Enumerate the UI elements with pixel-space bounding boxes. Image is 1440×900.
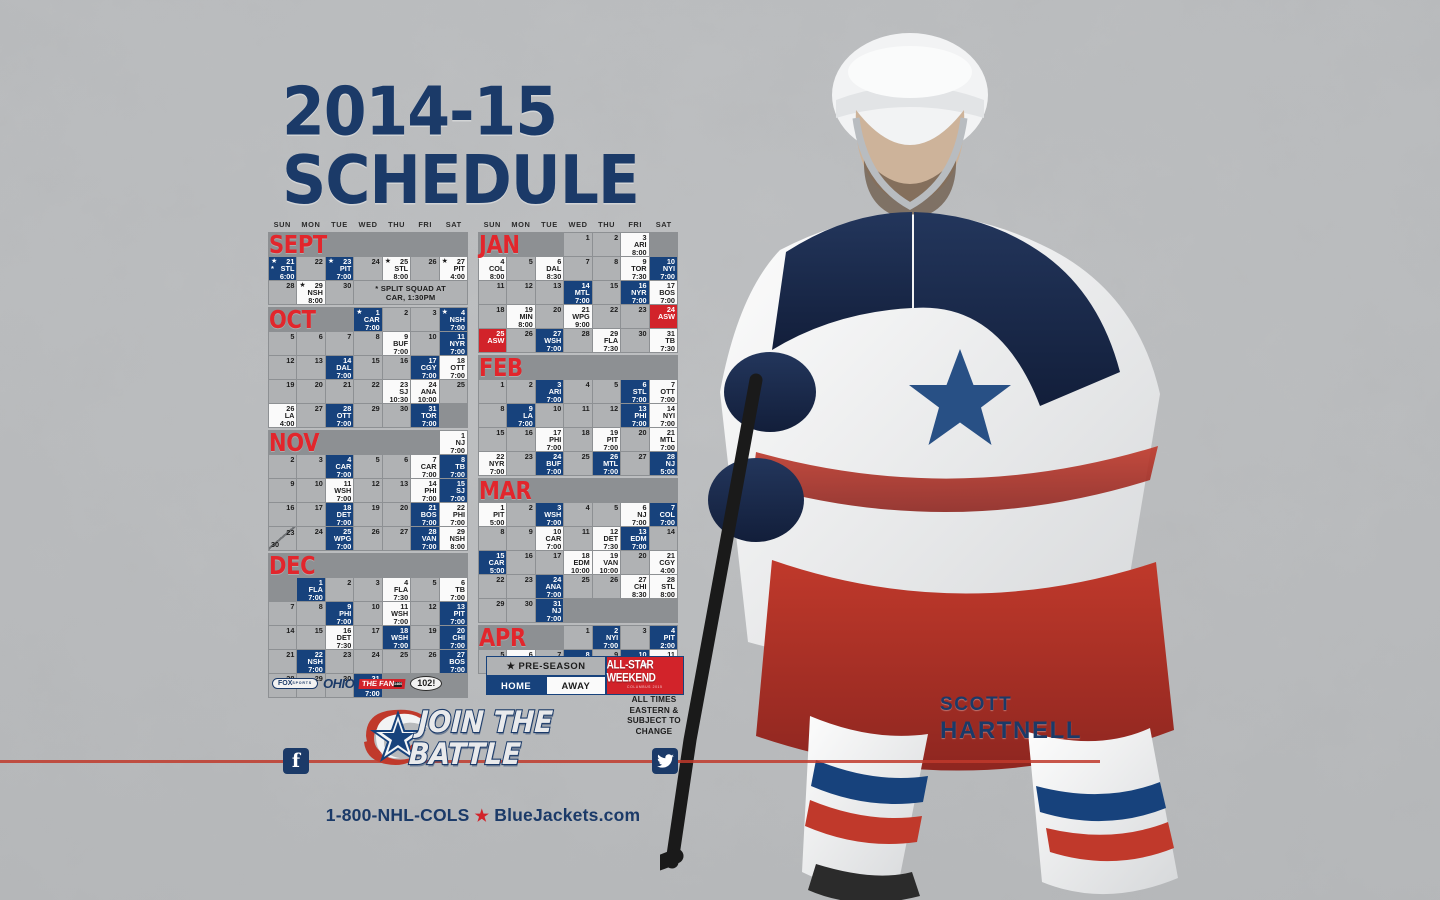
calendar-cell-8: 8 bbox=[297, 602, 324, 625]
game-cell-nj[interactable]: 31NJ7:00 bbox=[536, 599, 563, 622]
calendar-cell-empty bbox=[564, 479, 591, 502]
calendar-cell-12: 12 bbox=[593, 404, 620, 427]
calendar-cell-empty bbox=[269, 578, 296, 601]
game-cell-nyr[interactable]: 11NYR7:00 bbox=[440, 332, 467, 355]
star-icon: ★ bbox=[475, 808, 490, 825]
calendar-cell-empty bbox=[593, 479, 620, 502]
game-cell-nsh[interactable]: 22NSH7:00 bbox=[297, 650, 324, 673]
game-cell-tb[interactable]: 6TB7:00 bbox=[440, 578, 467, 601]
game-cell-tb[interactable]: 8TB7:00 bbox=[440, 455, 467, 478]
game-cell-nyr[interactable]: 22NYR7:00 bbox=[479, 452, 506, 475]
day-of-week-header-left: SUNMONTUEWEDTHUFRISAT bbox=[268, 220, 468, 229]
day-header-thu: THU bbox=[382, 220, 411, 229]
game-cell-phi[interactable]: 14PHI7:00 bbox=[411, 479, 438, 502]
calendar-cell-split: 2330 bbox=[269, 527, 296, 550]
game-cell-bos[interactable]: 17BOS7:00 bbox=[650, 281, 677, 304]
calendar-cell-26: 26 bbox=[354, 527, 381, 550]
calendar-cell-22: 22 bbox=[297, 257, 324, 280]
calendar-cell-empty bbox=[621, 479, 648, 502]
game-cell-la[interactable]: 9LA7:00 bbox=[507, 404, 534, 427]
calendar-cell-empty bbox=[326, 431, 353, 454]
game-cell-tor[interactable]: 31TOR7:00 bbox=[411, 404, 438, 427]
calendar-cell-27: 27 bbox=[297, 404, 324, 427]
website-link[interactable]: BlueJackets.com bbox=[494, 805, 640, 825]
calendar-cell-24: 24 bbox=[354, 257, 381, 280]
calendar-cell-empty bbox=[479, 356, 506, 379]
calendar-cell-empty bbox=[269, 308, 296, 331]
game-cell-min[interactable]: 19MIN8:00 bbox=[507, 305, 534, 328]
game-cell-car[interactable]: 10CAR7:00 bbox=[536, 527, 563, 550]
game-cell-det[interactable]: 18DET7:00 bbox=[326, 503, 353, 526]
calendar-cell-25: 25 bbox=[564, 452, 591, 475]
day-header-fri: FRI bbox=[621, 220, 650, 229]
calendar-cell-29: 29 bbox=[354, 404, 381, 427]
calendar-cell-empty bbox=[536, 626, 563, 649]
game-cell-ott[interactable]: 7OTT7:00 bbox=[650, 380, 677, 403]
calendar-cell-25: 25 bbox=[383, 650, 410, 673]
calendar-cell-empty bbox=[479, 626, 506, 649]
calendar-cell-empty bbox=[650, 599, 677, 622]
twitter-bird-glyph bbox=[657, 754, 674, 768]
game-cell-dal[interactable]: 6DAL8:30 bbox=[536, 257, 563, 280]
calendar-cell-17: 17 bbox=[354, 626, 381, 649]
game-cell-det[interactable]: 12DET7:30 bbox=[593, 527, 620, 550]
join-the-battle-logo: JOIN THE BATTLE bbox=[345, 702, 655, 774]
calendar-cell-20: 20 bbox=[383, 503, 410, 526]
schedule-column-left: SUNMONTUEWEDTHUFRISAT ★*21STL6:0022★23PI… bbox=[268, 220, 468, 700]
calendar-cell-15: 15 bbox=[593, 281, 620, 304]
calendar-cell-empty bbox=[411, 233, 438, 256]
game-cell-pit[interactable]: 19PIT7:00 bbox=[593, 428, 620, 451]
calendar-cell-empty bbox=[507, 626, 534, 649]
calendar-cell-empty bbox=[383, 554, 410, 577]
game-cell-pit[interactable]: 1PIT5:00 bbox=[479, 503, 506, 526]
game-cell-phi[interactable]: 17PHI7:00 bbox=[536, 428, 563, 451]
game-cell-mtl[interactable]: 14MTL7:00 bbox=[564, 281, 591, 304]
calendar-cell-empty bbox=[650, 479, 677, 502]
day-header-sat: SAT bbox=[649, 220, 678, 229]
game-cell-stl[interactable]: 6STL7:00 bbox=[621, 380, 648, 403]
month-jan: 123ARI8:004COL8:0056DAL8:30789TOR7:3010N… bbox=[478, 232, 678, 353]
legend-home: HOME bbox=[487, 677, 545, 694]
calendar-cell-10: 10 bbox=[354, 602, 381, 625]
split-squad-note: * SPLIT SQUAD ATCAR, 1:30PM bbox=[354, 281, 467, 304]
calendar-cell-14: 14 bbox=[269, 626, 296, 649]
broadcast-logos: FOX SPORTS OHIO THE FAN 1460 102! bbox=[272, 676, 442, 691]
calendar-cell-16: 16 bbox=[507, 551, 534, 574]
calendar-cell-8: 8 bbox=[593, 257, 620, 280]
game-cell-phi[interactable]: 9PHI7:00 bbox=[326, 602, 353, 625]
calendar-cell-empty bbox=[411, 554, 438, 577]
calendar-cell-empty bbox=[297, 233, 324, 256]
calendar-cell-2: 2 bbox=[269, 455, 296, 478]
game-cell-tor[interactable]: 9TOR7:30 bbox=[621, 257, 648, 280]
game-cell-nj[interactable]: 1NJ7:00 bbox=[440, 431, 467, 454]
game-cell-car[interactable]: ★1CAR7:00 bbox=[354, 308, 381, 331]
calendar-cell-30: 30 bbox=[621, 329, 648, 352]
calendar-cell-28: 28 bbox=[564, 329, 591, 352]
game-cell-nsh[interactable]: ★4NSH7:00 bbox=[440, 308, 467, 331]
calendar-cell-24: 24 bbox=[354, 650, 381, 673]
month-grid: 123ARI7:00456STL7:007OTT7:0089LA7:001011… bbox=[478, 355, 678, 476]
game-cell-buf[interactable]: 24BUF7:00 bbox=[536, 452, 563, 475]
calendar-cell-5: 5 bbox=[593, 503, 620, 526]
calendar-cell-empty bbox=[621, 356, 648, 379]
game-cell-ari[interactable]: 3ARI7:00 bbox=[536, 380, 563, 403]
game-cell-sj[interactable]: 23SJ10:30 bbox=[383, 380, 410, 403]
calendar-cell-20: 20 bbox=[621, 428, 648, 451]
month-grid: 123ARI8:004COL8:0056DAL8:30789TOR7:3010N… bbox=[478, 232, 678, 353]
game-cell-wsh[interactable]: 27WSH7:00 bbox=[536, 329, 563, 352]
calendar-cell-empty bbox=[507, 233, 534, 256]
calendar-cell-8: 8 bbox=[479, 404, 506, 427]
calendar-cell-22: 22 bbox=[479, 575, 506, 598]
month-sept: ★*21STL6:0022★23PIT7:0024★25STL8:0026★27… bbox=[268, 232, 468, 305]
fox-sports-logo: FOX SPORTS bbox=[272, 678, 318, 689]
calendar-cell-empty bbox=[269, 554, 296, 577]
calendar-cell-5: 5 bbox=[269, 332, 296, 355]
calendar-cell-empty bbox=[593, 599, 620, 622]
calendar-cell-empty bbox=[326, 233, 353, 256]
calendar-cell-empty bbox=[650, 233, 677, 256]
game-cell-cgy[interactable]: 17CGY7:00 bbox=[411, 356, 438, 379]
calendar-cell-empty bbox=[354, 233, 381, 256]
game-cell-edm[interactable]: 18EDM10:00 bbox=[564, 551, 591, 574]
game-cell-pit[interactable]: 13PIT7:00 bbox=[440, 602, 467, 625]
legend-away: AWAY bbox=[547, 677, 605, 694]
calendar-cell-23: 23 bbox=[621, 305, 648, 328]
calendar-cell-empty bbox=[297, 308, 324, 331]
game-cell-asw[interactable]: 25ASW bbox=[479, 329, 506, 352]
day-header-thu: THU bbox=[592, 220, 621, 229]
calendar-cell-12: 12 bbox=[507, 281, 534, 304]
calendar-cell-17: 17 bbox=[536, 551, 563, 574]
game-cell-ari[interactable]: 3ARI8:00 bbox=[621, 233, 648, 256]
calendar-cell-16: 16 bbox=[269, 503, 296, 526]
radio-102-logo: 102! bbox=[410, 676, 442, 691]
calendar-cell-7: 7 bbox=[269, 602, 296, 625]
game-cell-pit[interactable]: ★27PIT4:00 bbox=[440, 257, 467, 280]
game-cell-sj[interactable]: 15SJ7:00 bbox=[440, 479, 467, 502]
calendar-cell-19: 19 bbox=[269, 380, 296, 403]
calendar-cell-21: 21 bbox=[326, 380, 353, 403]
calendar-cell-5: 5 bbox=[354, 455, 381, 478]
game-cell-fla[interactable]: 29FLA7:30 bbox=[593, 329, 620, 352]
calendar-cell-30: 30 bbox=[507, 599, 534, 622]
calendar-cell-10: 10 bbox=[411, 332, 438, 355]
calendar-cell-23: 23 bbox=[507, 575, 534, 598]
calendar-cell-empty bbox=[440, 404, 467, 427]
calendar-cell-1: 1 bbox=[564, 233, 591, 256]
calendar-cell-5: 5 bbox=[411, 578, 438, 601]
game-cell-buf[interactable]: 9BUF7:00 bbox=[383, 332, 410, 355]
game-cell-det[interactable]: 16DET7:30 bbox=[326, 626, 353, 649]
month-oct: ★1CAR7:0023★4NSH7:0056789BUF7:001011NYR7… bbox=[268, 307, 468, 428]
game-cell-phi[interactable]: 13PHI7:00 bbox=[621, 404, 648, 427]
game-cell-car[interactable]: 7CAR7:00 bbox=[411, 455, 438, 478]
player-name: SCOTT HARTNELL bbox=[940, 690, 1082, 744]
calendar-cell-20: 20 bbox=[297, 380, 324, 403]
calendar-cell-4: 4 bbox=[564, 503, 591, 526]
phone-number: 1-800-NHL-COLS bbox=[326, 805, 470, 825]
the-fan-logo: THE FAN 1460 bbox=[359, 679, 406, 689]
calendar-cell-8: 8 bbox=[354, 332, 381, 355]
calendar-cell-23: 23 bbox=[326, 650, 353, 673]
month-grid: 1PIT5:0023WSH7:00456NJ7:007COL7:008910CA… bbox=[478, 478, 678, 623]
calendar-cell-empty bbox=[269, 431, 296, 454]
day-header-sat: SAT bbox=[439, 220, 468, 229]
game-cell-la[interactable]: 26LA4:00 bbox=[269, 404, 296, 427]
calendar-cell-12: 12 bbox=[269, 356, 296, 379]
game-cell-van[interactable]: 28VAN7:00 bbox=[411, 527, 438, 550]
calendar-cell-empty bbox=[326, 554, 353, 577]
player-photo bbox=[660, 0, 1440, 900]
calendar-cell-empty bbox=[354, 554, 381, 577]
game-cell-nyi[interactable]: 10NYI7:00 bbox=[650, 257, 677, 280]
calendar-cell-22: 22 bbox=[354, 380, 381, 403]
game-cell-wsh[interactable]: 18WSH7:00 bbox=[383, 626, 410, 649]
game-cell-nj[interactable]: 28NJ5:00 bbox=[650, 452, 677, 475]
calendar-cell-19: 19 bbox=[411, 626, 438, 649]
legend-all-star-weekend: ★ ALL-STAR WEEKEND COLUMBUS 2015 bbox=[607, 657, 683, 694]
calendar-cell-7: 7 bbox=[326, 332, 353, 355]
calendar-cell-empty bbox=[383, 431, 410, 454]
calendar-cell-13: 13 bbox=[383, 479, 410, 502]
calendar-cell-30: 30 bbox=[326, 281, 353, 304]
calendar-cell-28: 28 bbox=[269, 281, 296, 304]
game-cell-wpg[interactable]: 25WPG7:00 bbox=[326, 527, 353, 550]
calendar-cell-13: 13 bbox=[536, 281, 563, 304]
calendar-cell-15: 15 bbox=[297, 626, 324, 649]
calendar-cell-15: 15 bbox=[354, 356, 381, 379]
calendar-cell-2: 2 bbox=[507, 380, 534, 403]
calendar-cell-empty bbox=[297, 554, 324, 577]
game-cell-col[interactable]: 4COL8:00 bbox=[479, 257, 506, 280]
month-grid: ★*21STL6:0022★23PIT7:0024★25STL8:0026★27… bbox=[268, 232, 468, 305]
calendar-cell-29: 29 bbox=[479, 599, 506, 622]
game-cell-nyi[interactable]: 2NYI7:00 bbox=[593, 626, 620, 649]
schedule-column-right: SUNMONTUEWEDTHUFRISAT 123ARI8:004COL8:00… bbox=[478, 220, 678, 700]
calendar-cell-12: 12 bbox=[354, 479, 381, 502]
game-cell-ott[interactable]: 28OTT7:00 bbox=[326, 404, 353, 427]
calendar-cell-empty bbox=[507, 356, 534, 379]
calendar-cell-25: 25 bbox=[564, 575, 591, 598]
schedule-columns: SUNMONTUEWEDTHUFRISAT ★*21STL6:0022★23PI… bbox=[268, 220, 698, 700]
game-cell-edm[interactable]: 13EDM7:00 bbox=[621, 527, 648, 550]
calendar-cell-30: 30 bbox=[383, 404, 410, 427]
calendar-cell-23: 23 bbox=[507, 452, 534, 475]
month-feb: 123ARI7:00456STL7:007OTT7:0089LA7:001011… bbox=[478, 355, 678, 476]
calendar-cell-1: 1 bbox=[479, 380, 506, 403]
calendar-cell-13: 13 bbox=[297, 356, 324, 379]
calendar-cell-15: 15 bbox=[479, 428, 506, 451]
game-cell-ana[interactable]: 24ANA10:00 bbox=[411, 380, 438, 403]
calendar-cell-18: 18 bbox=[479, 305, 506, 328]
game-cell-chi[interactable]: 20CHI7:00 bbox=[440, 626, 467, 649]
calendar-cell-empty bbox=[621, 599, 648, 622]
game-cell-nyr[interactable]: 16NYR7:00 bbox=[621, 281, 648, 304]
calendar-cell-5: 5 bbox=[593, 380, 620, 403]
calendar-cell-empty bbox=[326, 308, 353, 331]
calendar-cell-27: 27 bbox=[383, 527, 410, 550]
game-cell-tb[interactable]: 31TB7:30 bbox=[650, 329, 677, 352]
day-header-wed: WED bbox=[354, 220, 383, 229]
calendar-cell-empty bbox=[354, 431, 381, 454]
calendar-cell-7: 7 bbox=[564, 257, 591, 280]
calendar-cell-empty bbox=[564, 599, 591, 622]
facebook-icon[interactable]: f bbox=[283, 748, 309, 774]
game-cell-pit[interactable]: 4PIT2:00 bbox=[650, 626, 677, 649]
calendar-cell-10: 10 bbox=[297, 479, 324, 502]
calendar-cell-16: 16 bbox=[507, 428, 534, 451]
day-header-fri: FRI bbox=[411, 220, 440, 229]
legend-preseason: ★ PRE-SEASON bbox=[487, 657, 605, 675]
calendar-cell-11: 11 bbox=[479, 281, 506, 304]
calendar-cell-empty bbox=[507, 479, 534, 502]
day-header-sun: SUN bbox=[478, 220, 507, 229]
game-cell-ott[interactable]: 18OTT7:00 bbox=[440, 356, 467, 379]
calendar-cell-4: 4 bbox=[564, 380, 591, 403]
day-header-tue: TUE bbox=[535, 220, 564, 229]
game-cell-car[interactable]: 15CAR5:00 bbox=[479, 551, 506, 574]
day-of-week-header-right: SUNMONTUEWEDTHUFRISAT bbox=[478, 220, 678, 229]
game-cell-nsh[interactable]: 29NSH8:00 bbox=[440, 527, 467, 550]
calendar-cell-16: 16 bbox=[383, 356, 410, 379]
month-grid: 1NJ7:00234CAR7:00567CAR7:008TB7:0091011W… bbox=[268, 430, 468, 551]
game-cell-pit[interactable]: ★23PIT7:00 bbox=[326, 257, 353, 280]
calendar-cell-24: 24 bbox=[297, 527, 324, 550]
calendar-cell-empty bbox=[297, 431, 324, 454]
calendar-cell-22: 22 bbox=[593, 305, 620, 328]
calendar-cell-9: 9 bbox=[507, 527, 534, 550]
game-cell-cgy[interactable]: 21CGY4:00 bbox=[650, 551, 677, 574]
game-cell-ana[interactable]: 24ANA7:00 bbox=[536, 575, 563, 598]
calendar-cell-empty bbox=[536, 233, 563, 256]
calendar-cell-11: 11 bbox=[564, 527, 591, 550]
game-cell-fla[interactable]: 4FLA7:30 bbox=[383, 578, 410, 601]
calendar-cell-10: 10 bbox=[536, 404, 563, 427]
calendar-cell-empty bbox=[650, 356, 677, 379]
game-cell-stl[interactable]: 28STL8:00 bbox=[650, 575, 677, 598]
calendar-cell-empty bbox=[536, 479, 563, 502]
game-cell-asw[interactable]: 24ASW bbox=[650, 305, 677, 328]
calendar-cell-3: 3 bbox=[411, 308, 438, 331]
game-cell-van[interactable]: 19VAN10:00 bbox=[593, 551, 620, 574]
calendar-cell-18: 18 bbox=[564, 428, 591, 451]
calendar-cell-25: 25 bbox=[440, 380, 467, 403]
game-cell-wsh[interactable]: 11WSH7:00 bbox=[383, 602, 410, 625]
game-cell-stl[interactable]: ★*21STL6:00 bbox=[269, 257, 296, 280]
calendar-cell-3: 3 bbox=[297, 455, 324, 478]
day-header-tue: TUE bbox=[325, 220, 354, 229]
game-cell-car[interactable]: 4CAR7:00 bbox=[326, 455, 353, 478]
contact-line: 1-800-NHL-COLS ★ BlueJackets.com bbox=[268, 805, 698, 826]
calendar-cell-19: 19 bbox=[354, 503, 381, 526]
calendar-cell-empty bbox=[440, 233, 467, 256]
game-cell-bos[interactable]: 27BOS7:00 bbox=[440, 650, 467, 673]
ohio-logo: OHIO bbox=[323, 676, 354, 691]
game-cell-chi[interactable]: 27CHI8:30 bbox=[621, 575, 648, 598]
game-cell-bos[interactable]: 21BOS7:00 bbox=[411, 503, 438, 526]
calendar-cell-empty bbox=[479, 479, 506, 502]
calendar-cell-6: 6 bbox=[383, 455, 410, 478]
month-grid: ★1CAR7:0023★4NSH7:0056789BUF7:001011NYR7… bbox=[268, 307, 468, 428]
game-cell-wsh[interactable]: 11WSH7:00 bbox=[326, 479, 353, 502]
month-nov: 1NJ7:00234CAR7:00567CAR7:008TB7:0091011W… bbox=[268, 430, 468, 551]
calendar-cell-9: 9 bbox=[269, 479, 296, 502]
calendar-cell-26: 26 bbox=[411, 650, 438, 673]
twitter-icon[interactable] bbox=[652, 748, 678, 774]
calendar-cell-20: 20 bbox=[621, 551, 648, 574]
game-cell-nsh[interactable]: ★29NSH8:00 bbox=[297, 281, 324, 304]
calendar-cell-20: 20 bbox=[536, 305, 563, 328]
game-cell-stl[interactable]: ★25STL8:00 bbox=[383, 257, 410, 280]
page-title: 2014-15 SCHEDULE bbox=[282, 78, 731, 215]
calendar-cell-empty bbox=[440, 674, 467, 697]
day-header-wed: WED bbox=[564, 220, 593, 229]
legend: ★ PRE-SEASON HOME AWAY ★ ALL-STAR WEEKEN… bbox=[486, 656, 684, 695]
game-cell-mtl[interactable]: 21MTL7:00 bbox=[650, 428, 677, 451]
month-mar: 1PIT5:0023WSH7:00456NJ7:007COL7:008910CA… bbox=[478, 478, 678, 623]
calendar-cell-2: 2 bbox=[383, 308, 410, 331]
game-cell-nj[interactable]: 6NJ7:00 bbox=[621, 503, 648, 526]
day-header-mon: MON bbox=[507, 220, 536, 229]
calendar-cell-3: 3 bbox=[354, 578, 381, 601]
calendar-cell-11: 11 bbox=[564, 404, 591, 427]
calendar-cell-17: 17 bbox=[297, 503, 324, 526]
calendar-cell-12: 12 bbox=[411, 602, 438, 625]
calendar-cell-1: 1 bbox=[564, 626, 591, 649]
game-cell-nyi[interactable]: 14NYI7:00 bbox=[650, 404, 677, 427]
game-cell-mtl[interactable]: 26MTL7:00 bbox=[593, 452, 620, 475]
game-cell-col[interactable]: 7COL7:00 bbox=[650, 503, 677, 526]
calendar-cell-empty bbox=[383, 233, 410, 256]
calendar-cell-empty bbox=[479, 233, 506, 256]
calendar-cell-empty bbox=[564, 356, 591, 379]
calendar-cell-5: 5 bbox=[507, 257, 534, 280]
game-cell-wsh[interactable]: 3WSH7:00 bbox=[536, 503, 563, 526]
calendar-cell-2: 2 bbox=[507, 503, 534, 526]
calendar-cell-empty bbox=[440, 554, 467, 577]
calendar-cell-21: 21 bbox=[269, 650, 296, 673]
game-cell-wpg[interactable]: 21WPG9:00 bbox=[564, 305, 591, 328]
day-header-sun: SUN bbox=[268, 220, 297, 229]
calendar-cell-2: 2 bbox=[326, 578, 353, 601]
day-header-mon: MON bbox=[297, 220, 326, 229]
calendar-cell-26: 26 bbox=[411, 257, 438, 280]
calendar-cell-14: 14 bbox=[650, 527, 677, 550]
calendar-cell-26: 26 bbox=[593, 575, 620, 598]
calendar-cell-2: 2 bbox=[593, 233, 620, 256]
calendar-cell-empty bbox=[593, 356, 620, 379]
calendar-cell-empty bbox=[536, 356, 563, 379]
calendar-cell-empty bbox=[411, 431, 438, 454]
game-cell-phi[interactable]: 22PHI7:00 bbox=[440, 503, 467, 526]
calendar-cell-6: 6 bbox=[297, 332, 324, 355]
calendar-cell-26: 26 bbox=[507, 329, 534, 352]
game-cell-dal[interactable]: 14DAL7:00 bbox=[326, 356, 353, 379]
calendar-cell-3: 3 bbox=[621, 626, 648, 649]
calendar-cell-8: 8 bbox=[479, 527, 506, 550]
calendar-cell-empty bbox=[269, 233, 296, 256]
game-cell-fla[interactable]: 1FLA7:00 bbox=[297, 578, 324, 601]
schedule-panel: 2014-15 SCHEDULE SUNMONTUEWEDTHUFRISAT ★… bbox=[268, 78, 698, 700]
calendar-cell-27: 27 bbox=[621, 452, 648, 475]
